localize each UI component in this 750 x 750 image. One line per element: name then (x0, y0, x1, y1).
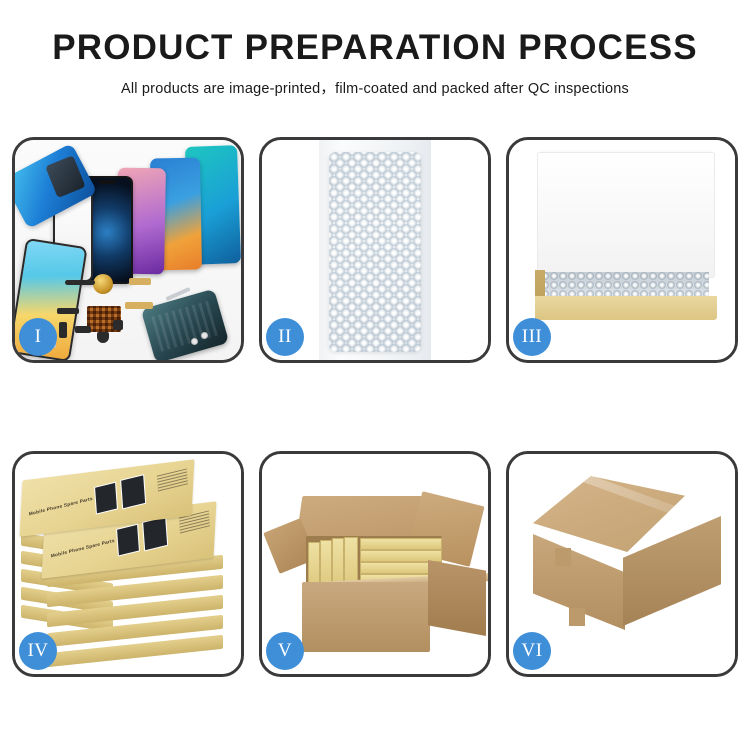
screw-part (191, 338, 198, 345)
bubble-wrapped-product (329, 152, 421, 352)
box-front-panel (535, 296, 717, 320)
screw-part (201, 332, 208, 339)
inner-box (360, 538, 442, 550)
header: PRODUCT PREPARATION PROCESS All products… (0, 0, 750, 98)
product-preparation-infographic: PRODUCT PREPARATION PROCESS All products… (0, 0, 750, 750)
box-product-photo (94, 482, 118, 515)
box-product-photo (142, 516, 168, 551)
carton-right-panel (428, 560, 486, 636)
inner-box (360, 550, 442, 562)
step-panel-iii: III (506, 137, 738, 363)
process-steps-grid: I II III (12, 137, 738, 677)
box-product-photo (120, 474, 146, 509)
vibration-motor-part (97, 332, 109, 343)
box-spec-lines (157, 468, 188, 493)
page-subtitle: All products are image-printed，film-coat… (0, 77, 750, 98)
flex-cable-part (129, 278, 151, 285)
speaker-part-icon (93, 274, 113, 294)
phone-back-housing (141, 289, 229, 360)
notch-icon (98, 180, 116, 184)
step-panel-v: V (259, 451, 491, 677)
box-product-photo (116, 524, 140, 557)
flex-cable-part (125, 302, 153, 309)
bubble-pattern (329, 152, 421, 352)
carton-hand-hole (555, 548, 571, 566)
step-badge-iii: III (513, 318, 551, 356)
step-badge-v: V (266, 632, 304, 670)
small-chip-part (59, 322, 67, 338)
box-label-text: Mobile Phone Spare Parts (29, 496, 93, 517)
step-panel-vi: VI (506, 451, 738, 677)
step-badge-i: I (19, 318, 57, 356)
button-flex-part (57, 308, 79, 314)
carton-front-panel (302, 582, 430, 652)
camera-part (113, 320, 123, 330)
step-badge-vi: VI (513, 632, 551, 670)
step-panel-ii: II (259, 137, 491, 363)
step-badge-iv: IV (19, 632, 57, 670)
step-badge-ii: II (266, 318, 304, 356)
step-panel-i: I (12, 137, 244, 363)
bubble-wrap-contents (541, 272, 709, 298)
earpiece-part (65, 280, 95, 285)
small-chip-part (75, 326, 91, 333)
box-open-lid (537, 152, 715, 278)
page-title: PRODUCT PREPARATION PROCESS (0, 30, 750, 65)
box-label-text: Mobile Phone Spare Parts (51, 538, 115, 559)
carton-hand-hole (569, 608, 585, 626)
step-panel-iv: Mobile Phone Spare Parts Mobile Phone Sp… (12, 451, 244, 677)
